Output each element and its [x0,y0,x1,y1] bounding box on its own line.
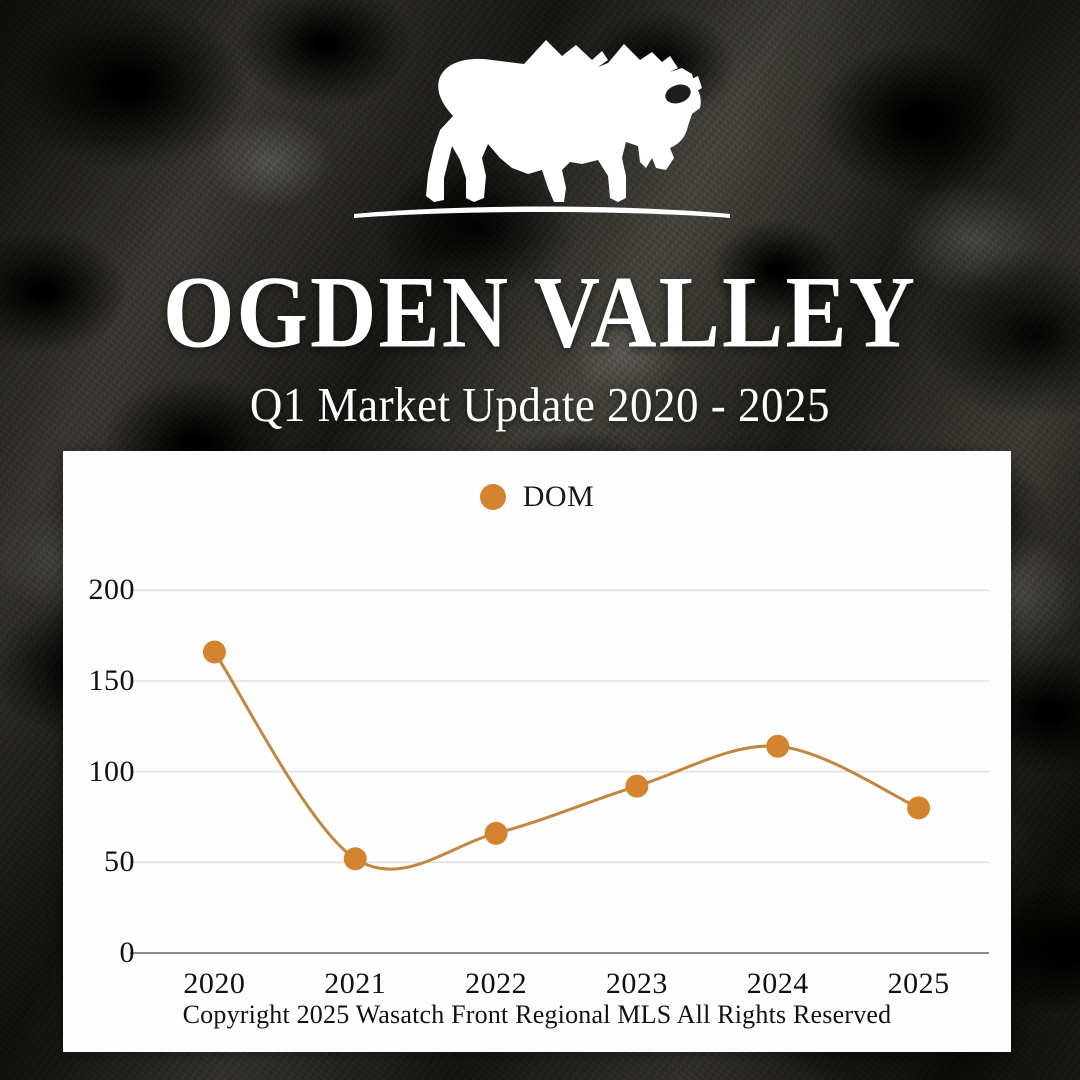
series-line-dom [214,652,918,869]
x-axis-tick-label: 2023 [606,967,668,1001]
y-axis-tick-label: 200 [89,573,136,607]
page-title: OGDEN VALLEY [0,262,1080,363]
bison-logo-icon [340,18,740,233]
data-point-dom [907,796,930,819]
logo-container [0,0,1080,233]
x-axis-tick-label: 2022 [465,967,527,1001]
dom-line-chart[interactable] [63,451,1011,1052]
x-axis-tick-label: 2021 [324,967,386,1001]
data-point-dom [766,735,789,758]
y-axis-tick-label: 100 [89,755,136,789]
x-axis-tick-label: 2025 [888,967,950,1001]
data-point-dom [203,640,226,663]
page-subtitle: Q1 Market Update 2020 - 2025 [0,377,1080,433]
y-axis-tick-label: 0 [120,936,136,970]
y-axis-tick-label: 150 [89,664,136,698]
chart-card: DOM 050100150200 20202021202220232024202… [63,451,1011,1052]
x-axis-tick-label: 2020 [183,967,245,1001]
data-point-dom [485,822,508,845]
copyright-footnote: Copyright 2025 Wasatch Front Regional ML… [63,1000,1011,1030]
header-block: OGDEN VALLEY Q1 Market Update 2020 - 202… [0,0,1080,431]
x-axis-tick-label: 2024 [747,967,809,1001]
data-point-dom [625,775,648,798]
y-axis-tick-label: 50 [104,845,135,879]
data-point-dom [344,847,367,870]
